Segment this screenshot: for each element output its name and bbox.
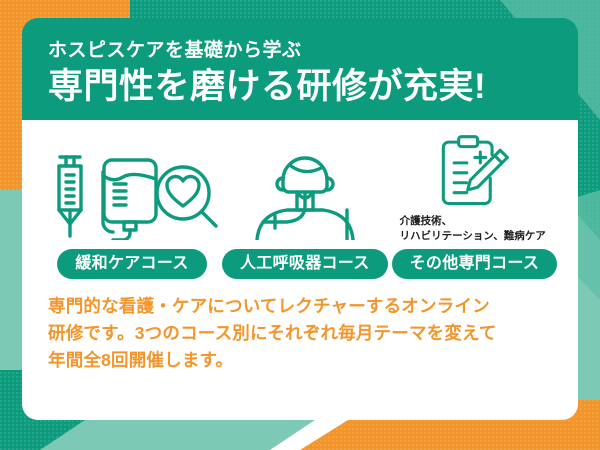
course-badge-other[interactable]: その他専門コース: [392, 249, 558, 279]
course-item-palliative[interactable]: 緩和ケアコース: [46, 148, 218, 279]
other-course-note-line1: 介護技術、: [400, 215, 453, 227]
page-title: 専門性を磨ける研修が充実!: [48, 68, 552, 107]
course-badge-ventilator[interactable]: 人工呼吸器コース: [222, 249, 388, 279]
other-course-note: 介護技術、 リハビリテーション、難病ケア: [400, 214, 546, 242]
ventilator-icon-group: [235, 148, 375, 240]
syringe-icon: [59, 157, 81, 236]
course-item-other[interactable]: 介護技術、 リハビリテーション、難病ケア その他専門コース: [392, 134, 558, 279]
lead-line-3: 年間全8回開催します。: [48, 347, 558, 374]
course-list: 緩和ケアコース: [42, 134, 558, 279]
content-card: 緩和ケアコース: [22, 120, 578, 420]
ventilator-patient-icon: [235, 148, 375, 240]
lead-line-2: 研修です。3つのコース別にそれぞれ毎月テーマを変えて: [48, 320, 558, 347]
other-icon-group: [431, 134, 517, 208]
course-badge-palliative[interactable]: 緩和ケアコース: [57, 249, 206, 279]
iv-bag-icon: [103, 160, 156, 240]
lead-paragraph: 専門的な看護・ケアについてレクチャーするオンライン 研修です。3つのコース別にそ…: [42, 293, 558, 374]
header-kicker: ホスピスケアを基礎から学ぶ: [48, 40, 552, 62]
other-course-note-line2: リハビリテーション、難病ケア: [400, 230, 546, 242]
clipboard-pencil-icon: [431, 134, 517, 208]
course-item-ventilator[interactable]: 人工呼吸器コース: [222, 148, 388, 279]
poster-stage: ホスピスケアを基礎から学ぶ 専門性を磨ける研修が充実!: [0, 0, 600, 450]
heart-magnifier-icon: [157, 167, 216, 226]
lead-line-1: 専門的な看護・ケアについてレクチャーするオンライン: [48, 293, 558, 320]
palliative-icon-group: [46, 148, 218, 240]
header-card: ホスピスケアを基礎から学ぶ 専門性を磨ける研修が充実!: [22, 18, 578, 120]
